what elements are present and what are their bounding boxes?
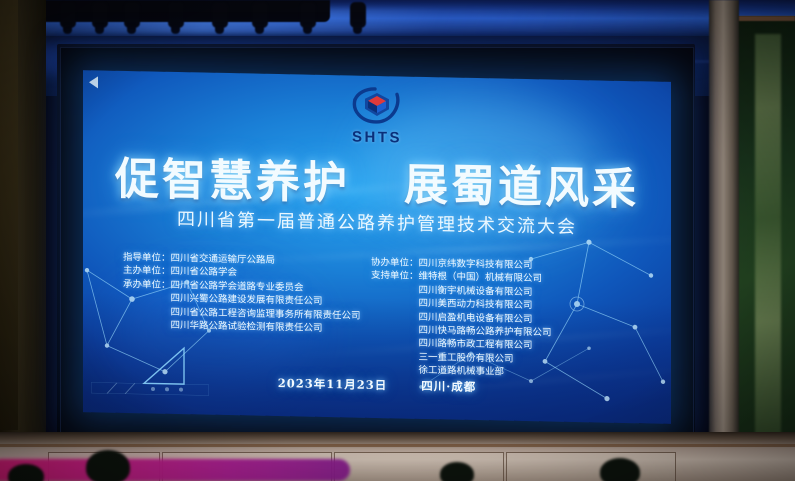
credits-right-column: 协办单位：四川京纬数字科技有限公司 支持单位：维特根（中国）机械有限公司 四川衡… [371, 256, 552, 380]
audience-head-silhouette [600, 458, 640, 481]
stage-lamp [212, 2, 228, 28]
event-date: 2023年11月23日 [278, 376, 388, 392]
banner-title-right: 展蜀道风采 [404, 160, 639, 216]
pink-light-band [0, 459, 350, 481]
screen-corner-marker-icon [89, 76, 98, 88]
shts-emblem-icon [349, 83, 405, 128]
stage-lamp [300, 2, 316, 28]
audience-head-silhouette [86, 450, 130, 481]
shts-logo: SHTS [292, 82, 462, 147]
wall-pillar [709, 0, 739, 481]
audience-head-silhouette [440, 462, 474, 481]
stage-lamp [350, 2, 366, 28]
wall-panel [334, 452, 504, 481]
credits-left-column: 指导单位：四川省交通运输厅公路局 主办单位：四川省公路学会 承办单位：四川省公路… [123, 251, 361, 336]
stage-lamp [60, 2, 76, 28]
event-location: 四川·成都 [421, 379, 476, 394]
wall-trim-line [0, 444, 795, 447]
green-panel-top-trim [737, 16, 795, 21]
stage-lamp [168, 2, 184, 28]
stage-lamp [124, 2, 140, 28]
stage-lamp [252, 2, 268, 28]
ceiling-truss [0, 0, 330, 22]
banner-title-left: 促智慧养护 [115, 154, 350, 210]
green-marble-veining [755, 34, 781, 444]
screen-content: SHTS 促智慧养护展蜀道风采 四川省第一届普通公路养护管理技术交流大会 指导单… [83, 70, 671, 424]
shts-logo-text: SHTS [292, 127, 462, 147]
led-screen: SHTS 促智慧养护展蜀道风采 四川省第一届普通公路养护管理技术交流大会 指导单… [83, 70, 671, 424]
stage-lamp [92, 2, 108, 28]
conference-hall-photo: SHTS 促智慧养护展蜀道风采 四川省第一届普通公路养护管理技术交流大会 指导单… [0, 0, 795, 481]
wall-panel [506, 452, 676, 481]
credits: 指导单位：四川省交通运输厅公路局 主办单位：四川省公路学会 承办单位：四川省公路… [83, 250, 671, 382]
audience-head-silhouette [8, 464, 44, 481]
left-wall-highlight [0, 0, 18, 430]
